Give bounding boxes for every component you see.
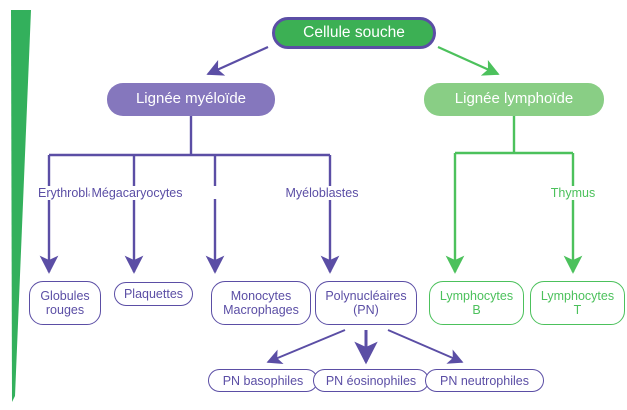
label-myeloblastes-text: Myéloblastes: [286, 186, 359, 200]
node-pn-neutrophiles-label: PN neutrophiles: [440, 374, 529, 388]
node-polynucleaires[interactable]: Polynucléaires (PN): [315, 281, 417, 325]
node-lymphocytes-t-line1: Lymphocytes: [541, 289, 614, 303]
node-lignee-myeloide-label: Lignée myéloïde: [136, 91, 246, 108]
hematopoiesis-diagram: Cellule souche Lignée myéloïde Lignée ly…: [0, 0, 627, 410]
node-polynucleaires-line1: Polynucléaires: [325, 289, 406, 303]
node-polynucleaires-line2: (PN): [353, 303, 379, 317]
node-lymphocytes-b-line1: Lymphocytes: [440, 289, 513, 303]
node-pn-eosinophiles[interactable]: PN éosinophiles: [313, 369, 429, 392]
label-myeloblastes: Myéloblastes: [284, 186, 361, 200]
node-cellule-souche-label: Cellule souche: [303, 24, 405, 41]
node-monocytes-line1: Monocytes: [231, 289, 291, 303]
node-lymphocytes-b-line2: B: [472, 303, 480, 317]
node-pn-eosinophiles-label: PN éosinophiles: [326, 374, 416, 388]
edge-lymphoid-bus: [455, 116, 573, 186]
node-lignee-myeloide[interactable]: Lignée myéloïde: [107, 83, 275, 116]
label-megacaryocytes-text: Mégacaryocytes: [91, 186, 182, 200]
node-globules-rouges-line2: rouges: [46, 303, 84, 317]
node-cellule-souche[interactable]: Cellule souche: [272, 17, 436, 49]
label-megacaryocytes: Mégacaryocytes: [89, 186, 184, 200]
node-pn-basophiles-label: PN basophiles: [223, 374, 304, 388]
node-globules-rouges[interactable]: Globules rouges: [29, 281, 101, 325]
edge-pn-to-neutrophiles: [388, 330, 462, 362]
node-pn-neutrophiles[interactable]: PN neutrophiles: [425, 369, 544, 392]
node-lymphocytes-t[interactable]: Lymphocytes T: [530, 281, 625, 325]
node-lymphocytes-t-line2: T: [574, 303, 582, 317]
diagram-connectors: [0, 0, 627, 410]
node-plaquettes[interactable]: Plaquettes: [114, 282, 193, 306]
node-lignee-lymphoide-label: Lignée lymphoïde: [455, 91, 573, 108]
label-thymus: Thymus: [549, 186, 597, 200]
edge-myeloid-bus: [49, 116, 330, 186]
node-lymphocytes-b[interactable]: Lymphocytes B: [429, 281, 524, 325]
node-plaquettes-label: Plaquettes: [124, 287, 183, 301]
edge-root-to-myeloid: [208, 47, 268, 74]
green-wedge-decoration: [11, 10, 31, 402]
label-thymus-text: Thymus: [551, 186, 595, 200]
node-pn-basophiles[interactable]: PN basophiles: [208, 369, 318, 392]
edge-pn-to-basophiles: [268, 330, 345, 362]
node-monocytes-line2: Macrophages: [223, 303, 299, 317]
node-lignee-lymphoide[interactable]: Lignée lymphoïde: [424, 83, 604, 116]
edge-root-to-lymphoid: [438, 47, 498, 74]
node-monocytes-macrophages[interactable]: Monocytes Macrophages: [211, 281, 311, 325]
node-globules-rouges-line1: Globules: [40, 289, 89, 303]
